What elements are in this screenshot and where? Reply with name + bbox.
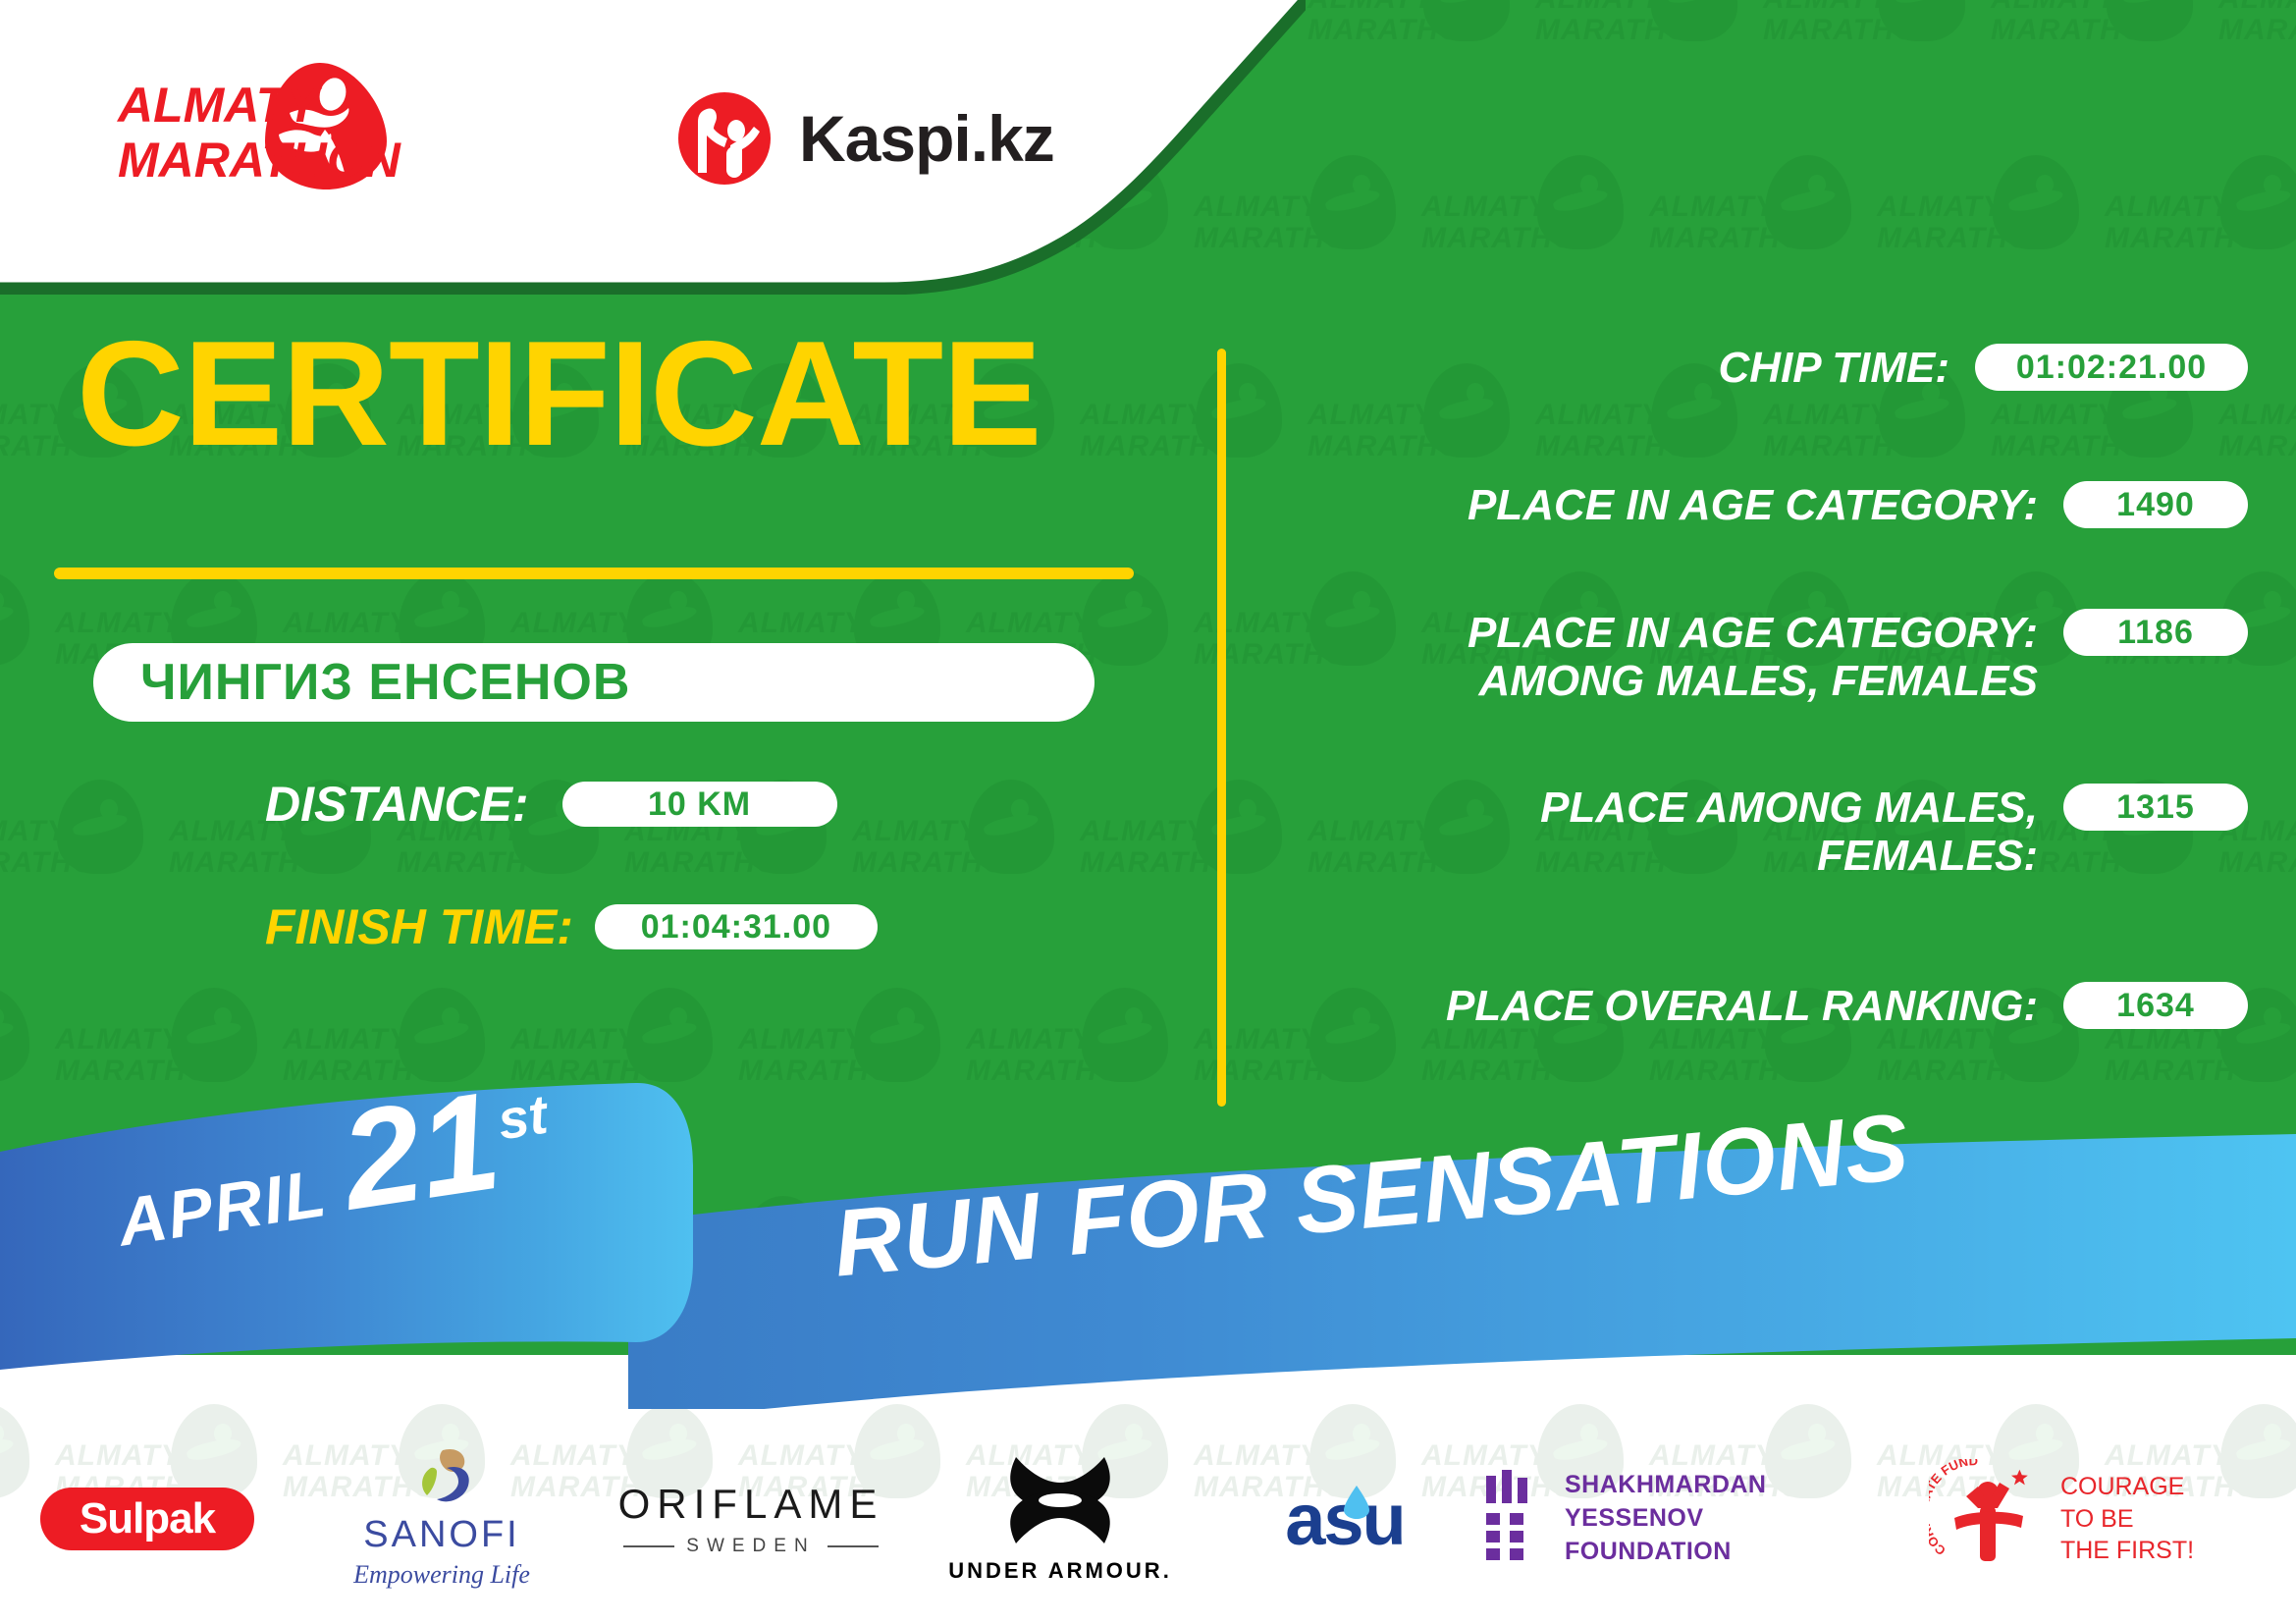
gender-place-label-line2: FEMALES: — [1817, 832, 2038, 880]
vertical-divider — [1217, 349, 1226, 1107]
watermark-tile: ALMATYMARATHON — [1877, 149, 2103, 357]
sponsor-bar: Sulpak SANOFI Empowering Life ORIFLAME — [0, 1414, 2296, 1624]
watermark-text-line1: ALMATY — [1649, 190, 1776, 224]
sponsor-oriflame: ORIFLAME SWEDEN — [589, 1450, 913, 1588]
event-day: 21 — [335, 1082, 506, 1222]
certificate-canvas: ALMATYMARATHONALMATYMARATHONALMATYMARATH… — [0, 0, 2296, 1624]
watermark-text-line2: MARATHON — [1763, 14, 1941, 47]
watermark-tile: ALMATYMARATHON — [1535, 0, 1761, 149]
watermark-tile: ALMATYMARATHON — [1991, 0, 2216, 149]
kaspi-mark-icon — [677, 91, 772, 186]
watermark-tile: ALMATYMARATHON — [1649, 149, 1875, 357]
sulpak-logo: Sulpak — [40, 1488, 254, 1550]
watermark-text-line2: MARATHON — [1991, 14, 2168, 47]
watermark-text-line2: MARATHON — [1649, 222, 1827, 255]
yessenov-text: SHAKHMARDAN YESSENOV FOUNDATION — [1565, 1469, 1895, 1568]
courage-text-line2: TO BE — [2060, 1505, 2134, 1533]
yessenov-text-line1: SHAKHMARDAN YESSENOV — [1565, 1471, 1767, 1532]
svg-text:CORPORATE FUND: CORPORATE FUND — [1929, 1459, 1978, 1558]
distance-row: DISTANCE: 10 KM — [265, 776, 837, 833]
courage-text: COURAGE TO BE THE FIRST! — [2060, 1471, 2194, 1567]
overall-ranking-value: 1634 — [2063, 982, 2248, 1029]
asu-logo: asu — [1285, 1478, 1405, 1561]
result-row-chip-time: CHIP TIME: 01:02:21.00 — [1256, 344, 2248, 392]
kaspi-logo-text: Kaspi.kz — [799, 106, 1054, 171]
result-row-age-category-gender: PLACE IN AGE CATEGORY: AMONG MALES, FEMA… — [1256, 609, 2248, 706]
finish-time-value: 01:04:31.00 — [595, 904, 878, 949]
event-day-suffix: st — [494, 1082, 552, 1153]
courage-figure-icon: CORPORATE FUND — [1929, 1459, 2047, 1580]
under-armour-mark-icon — [996, 1455, 1124, 1550]
sponsor-courage-fund: CORPORATE FUND COURAGE TO BE THE FIRST! — [1895, 1450, 2228, 1588]
sanofi-tagline: Empowering Life — [353, 1560, 530, 1590]
participant-name-field: ЧИНГИЗ ЕНСЕНОВ — [93, 643, 1095, 722]
sponsor-sulpak: Sulpak — [0, 1450, 294, 1588]
under-armour-logo: UNDER ARMOUR. — [948, 1455, 1172, 1584]
watermark-text-line2: MARATHON — [1421, 222, 1599, 255]
watermark-tile: ALMATYMARATHON — [2218, 0, 2296, 149]
under-armour-text: UNDER ARMOUR. — [948, 1558, 1172, 1584]
sponsor-sanofi: SANOFI Empowering Life — [294, 1450, 589, 1588]
almaty-logo-text-line2: MARATHON — [118, 133, 401, 188]
watermark-tile: ALMATYMARATHON — [1763, 0, 1989, 149]
result-row-gender-place: PLACE AMONG MALES, FEMALES: 1315 — [1256, 784, 2248, 881]
result-row-overall: PLACE OVERALL RANKING: 1634 — [1256, 982, 2248, 1030]
result-row-age-category: PLACE IN AGE CATEGORY: 1490 — [1256, 481, 2248, 529]
sponsor-yessenov-foundation: SHAKHMARDAN YESSENOV FOUNDATION — [1482, 1450, 1895, 1588]
sanofi-logo-text: SANOFI — [363, 1514, 519, 1556]
chip-time-label: CHIP TIME: — [1256, 344, 1975, 392]
oriflame-rule-left — [623, 1545, 674, 1547]
sponsor-asu: asu — [1207, 1450, 1482, 1588]
age-category-label: PLACE IN AGE CATEGORY: — [1256, 481, 2063, 529]
sanofi-mark-icon — [403, 1448, 480, 1514]
yessenov-logo: SHAKHMARDAN YESSENOV FOUNDATION — [1482, 1469, 1895, 1568]
participant-name: ЧИНГИЗ ЕНСЕНОВ — [140, 653, 630, 712]
sanofi-logo: SANOFI Empowering Life — [353, 1448, 530, 1590]
almaty-logo-text-line1: ALMATY — [116, 78, 323, 133]
courage-arc-text: CORPORATE FUND — [1929, 1459, 1978, 1558]
watermark-tile: ALMATYMARATHON — [1421, 149, 1647, 357]
gender-place-value: 1315 — [2063, 784, 2248, 831]
watermark-text-line2: MARATHON — [2218, 14, 2296, 47]
courage-text-line3: THE FIRST! — [2060, 1537, 2194, 1564]
age-category-gender-value: 1186 — [2063, 609, 2248, 656]
age-category-value: 1490 — [2063, 481, 2248, 528]
finish-time-label: FINISH TIME: — [265, 898, 573, 955]
oriflame-rule-right — [828, 1545, 879, 1547]
oriflame-sub-text: SWEDEN — [686, 1536, 815, 1557]
title-underline — [54, 568, 1134, 579]
watermark-text-line1: ALMATY — [1877, 190, 2003, 224]
courage-text-line1: COURAGE — [2060, 1473, 2184, 1500]
courage-logo: CORPORATE FUND COURAGE TO BE THE FIRST! — [1929, 1459, 2194, 1580]
sponsor-under-armour: UNDER ARMOUR. — [913, 1450, 1207, 1588]
oriflame-sub: SWEDEN — [623, 1536, 878, 1557]
watermark-text-line2: MARATHON — [1308, 14, 1485, 47]
results-column: CHIP TIME: 01:02:21.00 PLACE IN AGE CATE… — [1256, 344, 2248, 1119]
watermark-text-line2: MARATHON — [2105, 222, 2282, 255]
age-category-gender-label: PLACE IN AGE CATEGORY: AMONG MALES, FEMA… — [1256, 609, 2063, 706]
watermark-text-line1: ALMATY — [2105, 190, 2231, 224]
certificate-title: CERTIFICATE — [77, 319, 1041, 468]
gender-place-label-line1: PLACE AMONG MALES, — [1540, 784, 2038, 832]
watermark-tile: ALMATYMARATHON — [2105, 149, 2296, 357]
finish-time-row: FINISH TIME: 01:04:31.00 — [265, 898, 878, 955]
kaspi-logo: Kaspi.kz — [677, 86, 1070, 189]
sulpak-logo-text: Sulpak — [80, 1494, 215, 1543]
age-category-gender-label-line2: AMONG MALES, FEMALES — [1478, 657, 2038, 705]
oriflame-logo: ORIFLAME SWEDEN — [618, 1481, 884, 1557]
distance-label: DISTANCE: — [265, 776, 529, 833]
age-category-gender-label-line1: PLACE IN AGE CATEGORY: — [1468, 609, 2038, 657]
watermark-text-line1: ALMATY — [1421, 190, 1548, 224]
overall-ranking-label: PLACE OVERALL RANKING: — [1256, 982, 2063, 1030]
watermark-text-line2: MARATHON — [1535, 14, 1713, 47]
watermark-tile: ALMATYMARATHON — [1308, 0, 1533, 149]
yessenov-mark-icon — [1482, 1470, 1543, 1569]
watermark-text-line2: MARATHON — [1877, 222, 2055, 255]
chip-time-value: 01:02:21.00 — [1975, 344, 2248, 391]
distance-value: 10 KM — [562, 782, 837, 827]
asu-drop-icon — [1344, 1452, 1369, 1536]
gender-place-label: PLACE AMONG MALES, FEMALES: — [1256, 784, 2063, 881]
oriflame-logo-text: ORIFLAME — [618, 1481, 884, 1528]
almaty-marathon-logo: ALMATY MARATHON — [116, 51, 440, 198]
left-column: CERTIFICATE ЧИНГИЗ ЕНСЕНОВ DISTANCE: 10 … — [0, 295, 1178, 1110]
yessenov-text-line2: FOUNDATION — [1565, 1538, 1732, 1565]
